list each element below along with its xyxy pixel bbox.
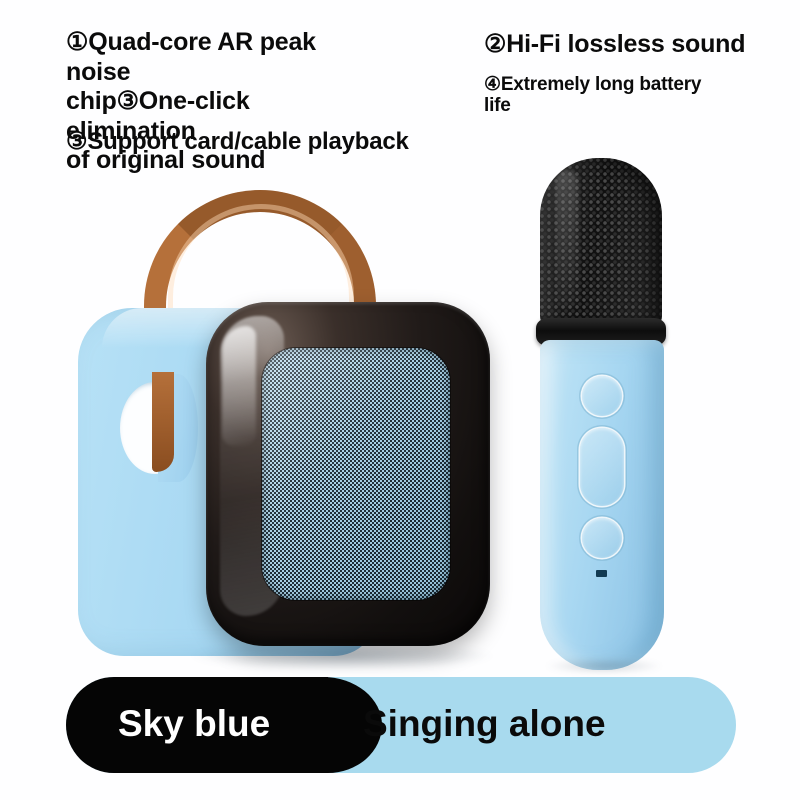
variant-banner: Sky blue Singing alone xyxy=(66,677,736,773)
bluetooth-speaker xyxy=(72,176,502,676)
microphone-button-top[interactable] xyxy=(582,376,622,416)
speaker-drop-shadow xyxy=(192,644,492,670)
speaker-mesh-grille-sheen xyxy=(262,348,450,600)
feature-text-3: ③Support card/cable playback xyxy=(66,128,416,156)
product-image-canvas: ①Quad-core AR peak noise chip③One-click … xyxy=(0,0,800,800)
color-label[interactable]: Sky blue xyxy=(118,703,270,745)
feature-text-4: ④Extremely long battery life xyxy=(484,74,714,117)
feature-text-2: ②Hi-Fi lossless sound xyxy=(484,30,784,60)
wireless-microphone xyxy=(512,158,702,678)
microphone-led-indicator xyxy=(596,570,607,577)
variant-label[interactable]: Singing alone xyxy=(363,703,606,745)
microphone-head-highlight xyxy=(556,170,578,310)
speaker-strap-through-slot xyxy=(152,372,174,472)
microphone-drop-shadow xyxy=(546,658,662,674)
microphone-button-bottom[interactable] xyxy=(582,518,622,558)
microphone-button-middle[interactable] xyxy=(580,428,624,506)
